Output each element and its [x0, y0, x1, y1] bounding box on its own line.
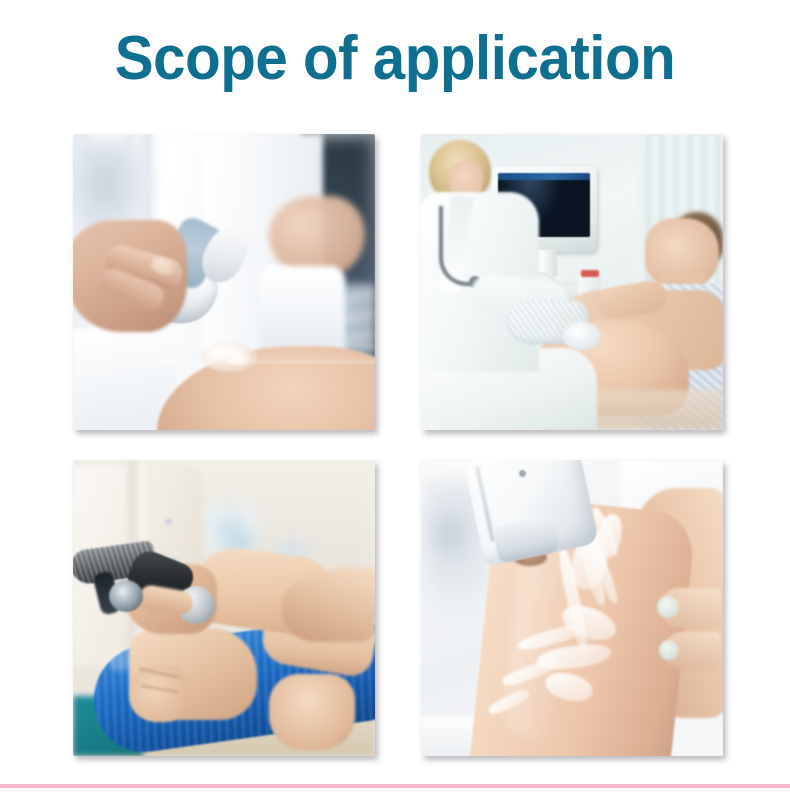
photo2-screen-header-bar	[498, 173, 590, 180]
photo4-fingernail-lower	[659, 640, 679, 660]
photo-therapeutic-ultrasound-foot	[73, 460, 375, 756]
photo-obstetric-ultrasound-exam	[421, 134, 723, 430]
photo2-stethoscope	[439, 206, 483, 286]
photo3-second-foot	[269, 674, 355, 750]
photo-gallery	[73, 134, 723, 766]
bottom-accent-rule	[0, 784, 790, 788]
photo4-fingernail-upper	[657, 596, 679, 618]
photo4-device-indicator-led	[519, 470, 526, 477]
gallery-image-obstetric-ultrasound-exam[interactable]	[421, 134, 723, 430]
gallery-image-therapeutic-ultrasound-foot[interactable]	[73, 460, 375, 756]
photo-body-contouring-gel-leg	[421, 460, 723, 756]
page-title: Scope of application	[24, 24, 767, 94]
photo3-wristwatch	[109, 580, 143, 612]
photo2-transducer-probe	[563, 322, 601, 350]
photo3-patient-toes	[131, 666, 187, 722]
photo1-background-fist	[269, 196, 365, 276]
gallery-image-ultrasound-probe-abdomen[interactable]	[73, 134, 375, 430]
photo2-gel-bottle-cap	[581, 270, 599, 277]
photo1-gel-highlight	[225, 350, 251, 366]
photo3-coat-button-1	[165, 518, 172, 525]
photo4-bokeh-2	[427, 506, 471, 562]
photo-ultrasound-probe-abdomen	[73, 134, 375, 430]
photo3-therapist-hand-right	[281, 578, 375, 642]
gallery-image-body-contouring-gel-leg[interactable]	[421, 460, 723, 756]
